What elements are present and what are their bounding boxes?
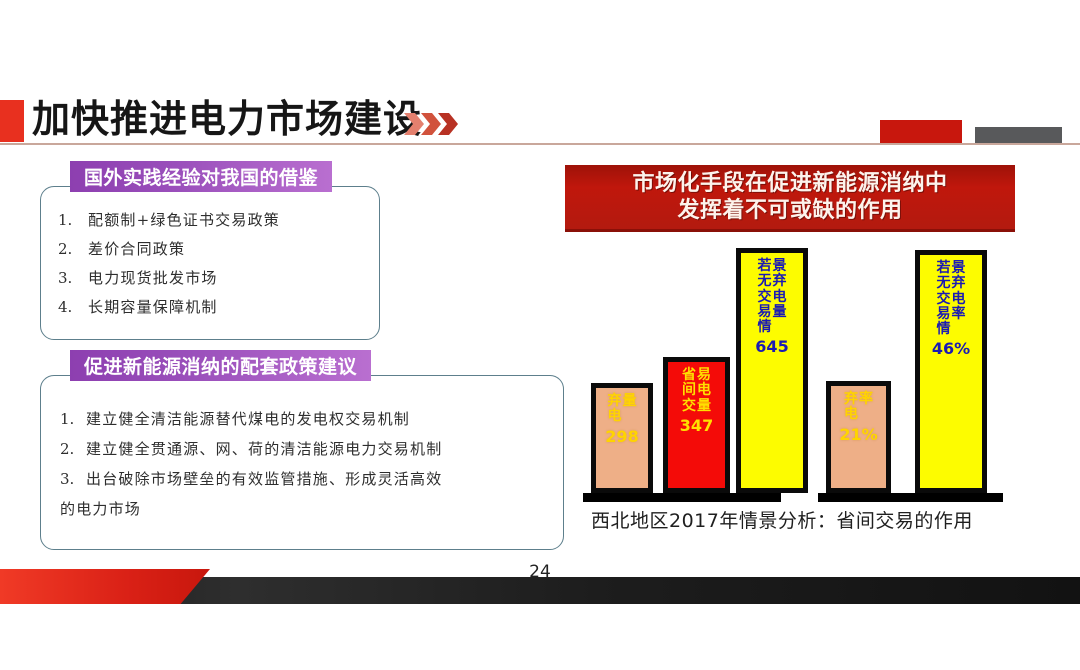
page-title: 加快推进电力市场建设 <box>32 96 422 142</box>
chart-bar-label-char: 景 <box>952 261 966 275</box>
chart-bar-label-char: 弃 <box>773 274 787 288</box>
list-item-number: 4. <box>52 293 88 322</box>
chart-bar-label: 省易间电交量 <box>682 368 711 413</box>
chart-bar-label-char: 弃 <box>844 392 858 406</box>
right-panel: 市场化手段在促进新能源消纳中 发挥着不可或缺的作用 弃量电298省易间电交量34… <box>565 160 1015 560</box>
chart-bar-label-char: 无 <box>937 276 951 290</box>
chart-bar-label-char: 情 <box>758 320 772 334</box>
chart-bar-value: 347 <box>680 416 713 435</box>
chart-bar-label: 弃量电 <box>608 394 637 424</box>
list-item: 3. 出台破除市场壁垒的有效监管措施、形成灵活高效 <box>54 464 564 494</box>
list-item: 1. 配额制+绿色证书交易政策 <box>52 206 372 235</box>
list-item-number: 1. <box>54 404 86 434</box>
chart-bar-label-char <box>859 407 873 421</box>
list-item-number: 3. <box>52 264 88 293</box>
chart-bar-label-char: 电 <box>773 290 787 304</box>
list-item-text: 建立健全清洁能源替代煤电的发电权交易机制 <box>86 404 410 434</box>
title-accent-bar <box>0 100 24 142</box>
chart-bar-value: 46% <box>932 339 970 358</box>
chart-bar-label-char: 情 <box>937 322 951 336</box>
chart-bar-label-char: 省 <box>682 368 696 382</box>
chart-bar-value: 645 <box>755 337 788 356</box>
chart-bar-label-char: 量 <box>773 305 787 319</box>
chart-bar-label-char: 间 <box>682 383 696 397</box>
chart-bar-label-char: 若 <box>937 261 951 275</box>
chart-bar-label-char: 率 <box>952 307 966 321</box>
chart-bar-label-char: 易 <box>937 307 951 321</box>
chart-bar-label-char: 弃 <box>608 394 622 408</box>
chart-bar-label-char: 量 <box>623 394 637 408</box>
chart-bar-label-char: 交 <box>682 399 696 413</box>
list-item-number: 3. <box>54 464 86 494</box>
section-1-list: 1. 配额制+绿色证书交易政策 2. 差价合同政策 3. 电力现货批发市场 4.… <box>52 206 372 322</box>
list-item-text: 建立健全贯通源、网、荷的清洁能源电力交易机制 <box>86 434 442 464</box>
list-item-text: 差价合同政策 <box>88 235 185 264</box>
chart-baseline-group-2 <box>818 493 1003 502</box>
chart-bar: 弃率电21% <box>826 381 891 493</box>
chart-bar: 若景无弃交电易量情645 <box>736 248 808 493</box>
list-item-text: 出台破除市场壁垒的有效监管措施、形成灵活高效 <box>86 464 442 494</box>
list-item-number: 2. <box>52 235 88 264</box>
chart-bar-label-char: 景 <box>773 259 787 273</box>
slide-canvas: 加快推进电力市场建设 国外实践经验对我国的借鉴 1. 配额制+绿色证书交易政策 … <box>0 0 1080 670</box>
list-item-text: 电力现货批发市场 <box>88 264 218 293</box>
footer-band-red <box>0 569 210 604</box>
decor-block-red <box>880 120 962 143</box>
chart-bar-value: 21% <box>839 425 877 444</box>
chart-bar: 弃量电298 <box>591 383 653 493</box>
chart-bar-label-char: 电 <box>608 409 622 423</box>
title-divider-rule <box>0 143 1080 145</box>
list-item-number: 1. <box>52 206 88 235</box>
list-item-number: 2. <box>54 434 86 464</box>
section-1-heading: 国外实践经验对我国的借鉴 <box>70 161 332 192</box>
chart-bar-label-char: 交 <box>758 290 772 304</box>
chart-caption: 西北地区2017年情景分析：省间交易的作用 <box>591 506 1011 533</box>
chart-bar-label-char: 率 <box>859 392 873 406</box>
chart-bar-label-char: 电 <box>697 383 711 397</box>
chart-bar-label-char <box>773 320 787 334</box>
chart-bar-label-char: 易 <box>758 305 772 319</box>
chart-bar-label: 若景无弃交电易率情 <box>937 261 966 336</box>
decor-block-gray <box>975 127 1062 143</box>
chart-bar-label-char: 交 <box>937 292 951 306</box>
chart-bar-value: 298 <box>605 427 638 446</box>
chart-bar-label-char: 量 <box>697 399 711 413</box>
chart-bar-label-char: 电 <box>952 292 966 306</box>
list-item-text: 长期容量保障机制 <box>88 293 218 322</box>
chart-bar-label-char: 电 <box>844 407 858 421</box>
section-2-heading: 促进新能源消纳的配套政策建议 <box>70 350 371 381</box>
chart-bar-label-char: 若 <box>758 259 772 273</box>
list-item: 2. 差价合同政策 <box>52 235 372 264</box>
chart-baseline-group-1 <box>583 493 781 502</box>
list-item-text: 配额制+绿色证书交易政策 <box>88 206 280 235</box>
chart-bar-label-char: 易 <box>697 368 711 382</box>
section-2-list: 1. 建立健全清洁能源替代煤电的发电权交易机制 2. 建立健全贯通源、网、荷的清… <box>54 404 564 524</box>
list-item: 1. 建立健全清洁能源替代煤电的发电权交易机制 <box>54 404 564 434</box>
list-item-continuation: 的电力市场 <box>54 494 564 524</box>
triple-chevron-right-icon <box>404 112 464 136</box>
list-item: 4. 长期容量保障机制 <box>52 293 372 322</box>
conclusion-banner-line-1: 市场化手段在促进新能源消纳中 <box>632 170 947 197</box>
chart-bar-label-char: 无 <box>758 274 772 288</box>
chart-bar-label-char: 弃 <box>952 276 966 290</box>
chart-bar-label-char <box>623 409 637 423</box>
scenario-bar-chart: 弃量电298省易间电交量347若景无弃交电易量情645弃率电21%若景无弃交电易… <box>573 240 1013 530</box>
chart-bar-label: 若景无弃交电易量情 <box>758 259 787 334</box>
chart-bar-label-char <box>952 322 966 336</box>
conclusion-banner: 市场化手段在促进新能源消纳中 发挥着不可或缺的作用 <box>565 165 1015 232</box>
list-item: 2. 建立健全贯通源、网、荷的清洁能源电力交易机制 <box>54 434 564 464</box>
conclusion-banner-line-2: 发挥着不可或缺的作用 <box>677 197 902 224</box>
list-item: 3. 电力现货批发市场 <box>52 264 372 293</box>
chart-bar: 若景无弃交电易率情46% <box>915 250 987 493</box>
chart-bar-label: 弃率电 <box>844 392 873 422</box>
chart-bar: 省易间电交量347 <box>663 357 730 493</box>
chart-plot-area: 弃量电298省易间电交量347若景无弃交电易量情645弃率电21%若景无弃交电易… <box>573 240 1013 502</box>
